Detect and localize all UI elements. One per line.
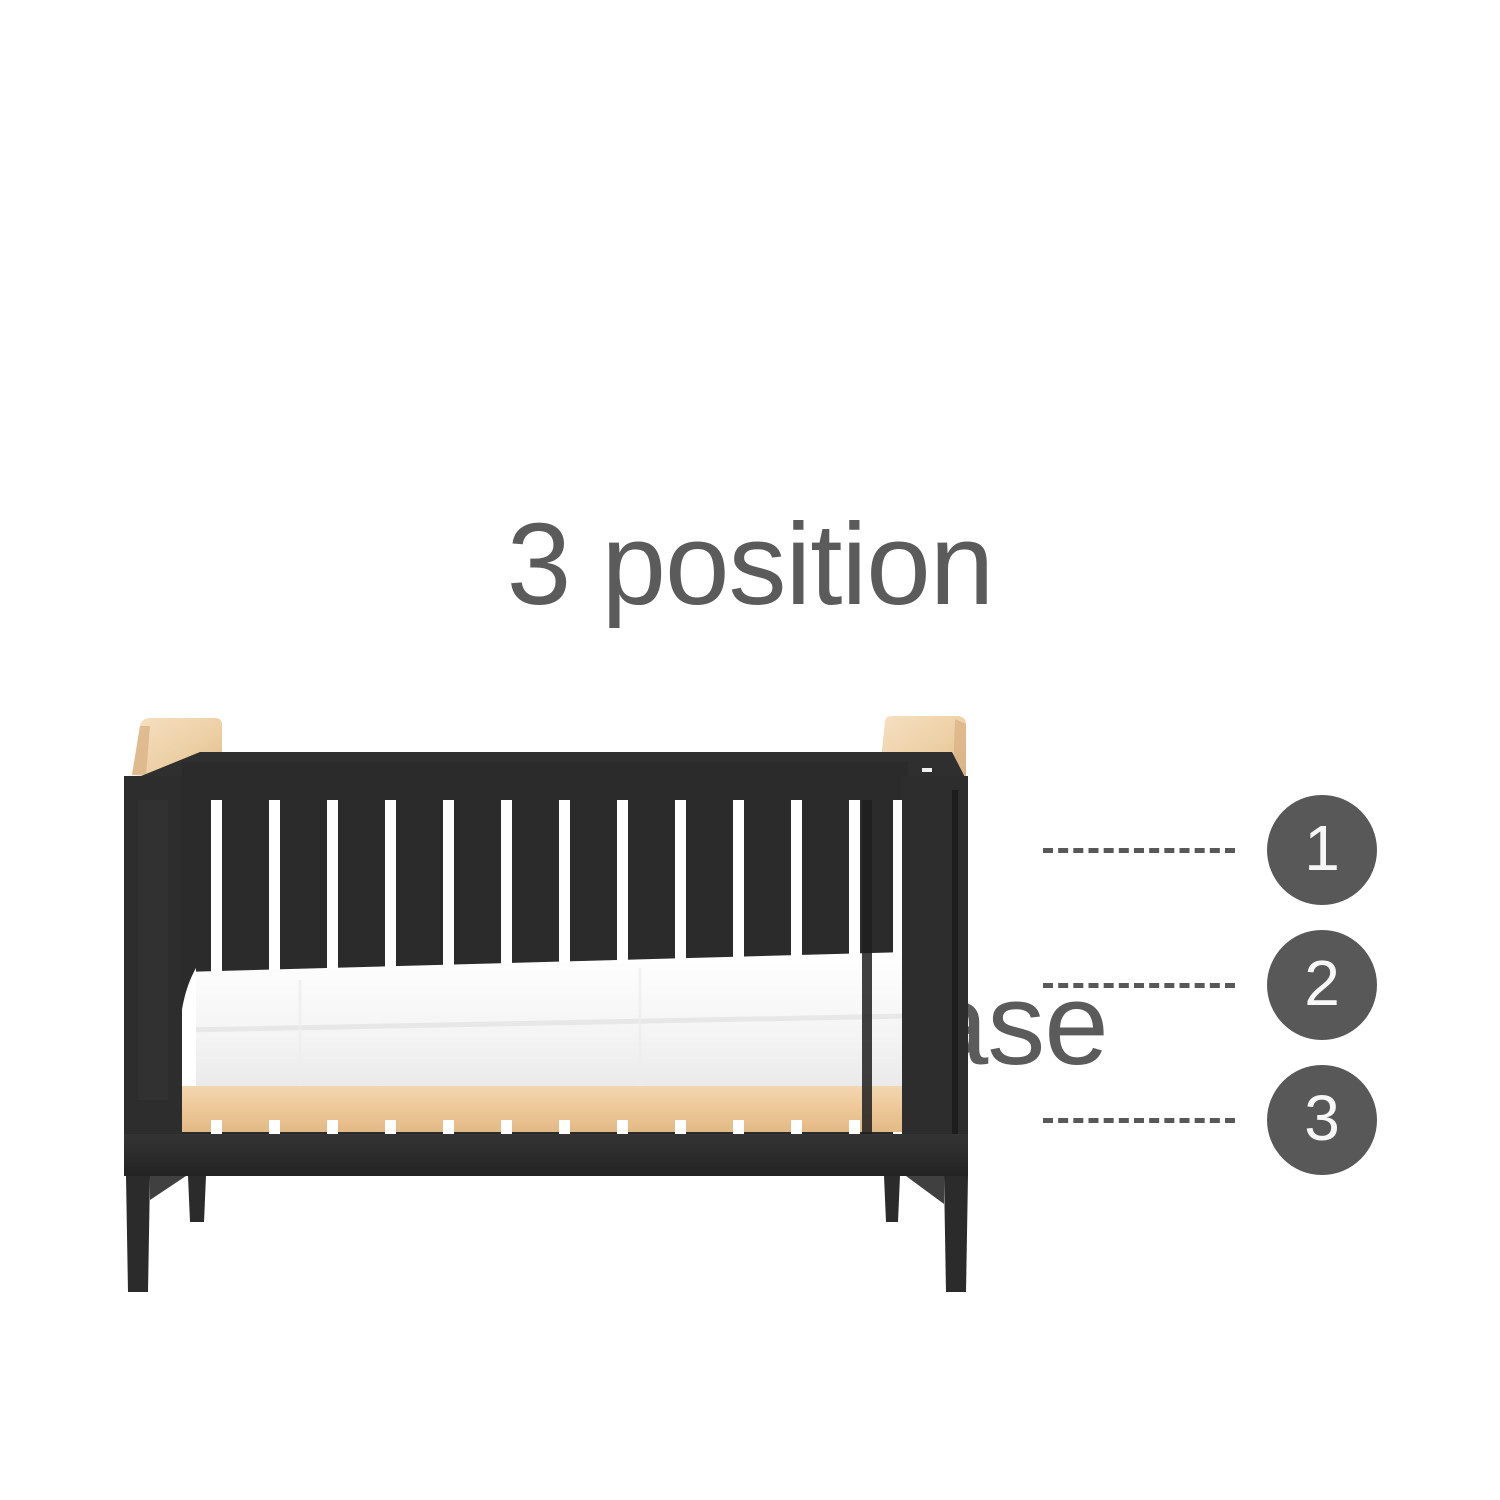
position-badge-1[interactable]: 1: [1267, 795, 1377, 905]
callout-1[interactable]: 1: [1043, 794, 1377, 906]
callout-3[interactable]: 3: [1043, 1064, 1377, 1176]
position-badge-2-label: 2: [1304, 951, 1340, 1015]
leader-line-2: [1043, 983, 1235, 988]
leader-line-3: [1043, 1118, 1235, 1123]
position-badge-1-label: 1: [1304, 816, 1340, 880]
position-badge-2[interactable]: 2: [1267, 930, 1377, 1040]
mattress: [182, 952, 908, 1092]
crib-illustration: [0, 0, 1500, 1500]
crib-leg-front-left: [126, 1176, 150, 1292]
leader-line-1: [1043, 848, 1235, 853]
position-badge-3-label: 3: [1304, 1086, 1340, 1150]
crib-leg-rear-right: [884, 1176, 900, 1222]
crib-interior: [179, 762, 908, 1136]
crib-bottom-rail: [124, 1134, 968, 1176]
callout-2[interactable]: 2: [1043, 929, 1377, 1041]
infographic-canvas: 3 position mattress base: [0, 0, 1500, 1500]
crib-post-right: [902, 776, 968, 1140]
position-badge-3[interactable]: 3: [1267, 1065, 1377, 1175]
crib-leg-front-right: [944, 1176, 968, 1292]
crib-leg-rear-left: [188, 1176, 206, 1222]
crib-legs: [126, 1176, 968, 1292]
